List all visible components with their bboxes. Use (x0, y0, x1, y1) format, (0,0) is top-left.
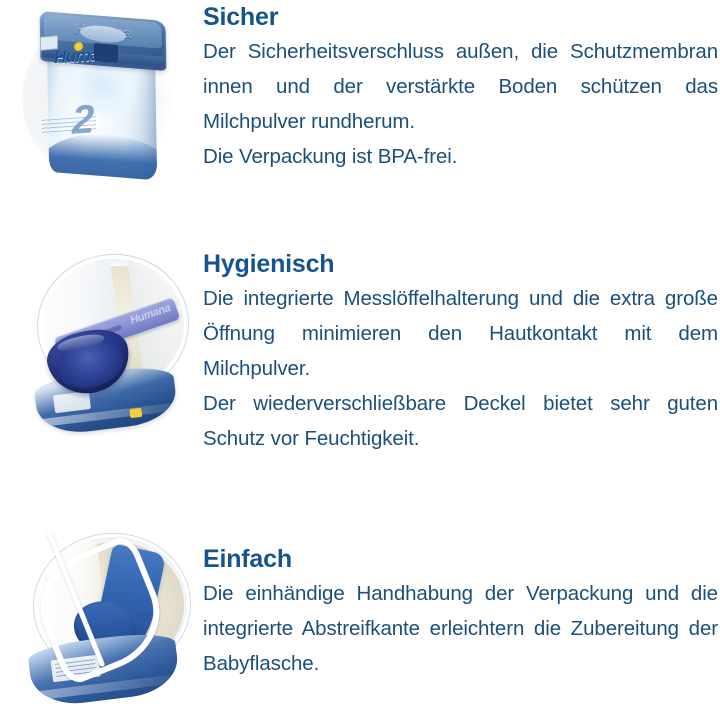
feature-paragraphs-hygienisch: Die integrierte Messlöffelhalterung und … (203, 281, 718, 456)
feature-paragraph: Der Sicherheitsverschluss außen, die Sch… (203, 34, 718, 139)
feature-image-hygienisch: Humana (18, 251, 186, 431)
feature-title-sicher: Sicher (203, 2, 718, 32)
feature-paragraph: Die integrierte Messlöffelhalterung und … (203, 281, 718, 386)
humana-closed-tin-photo: Humana 2 Humana (28, 10, 176, 182)
feature-paragraph: Die einhändige Handhabung der Verpackung… (203, 576, 718, 681)
humana-open-tin-wiper-photo (26, 534, 194, 702)
label-info-box (53, 391, 91, 413)
humana-scoop-holder-photo: Humana (26, 253, 191, 429)
product-feature-page: Humana 2 Humana Sicher Der Sicherheitsve… (0, 0, 720, 686)
feature-text-sicher: Sicher Der Sicherheitsverschluss außen, … (203, 2, 718, 174)
label-accent-swatch (129, 408, 142, 418)
safety-closure-clip (94, 43, 118, 63)
feature-paragraphs-einfach: Die einhändige Handhabung der Verpackung… (203, 576, 718, 681)
feature-paragraph: Die Verpackung ist BPA-frei. (203, 139, 718, 174)
feature-title-hygienisch: Hygienisch (203, 249, 718, 279)
feature-text-einfach: Einfach Die einhändige Handhabung der Ve… (203, 544, 718, 681)
feature-image-sicher: Humana 2 Humana (18, 6, 186, 186)
feature-title-einfach: Einfach (203, 544, 718, 574)
feature-text-hygienisch: Hygienisch Die integrierte Messlöffelhal… (203, 249, 718, 456)
feature-paragraph: Der wiederverschließbare Deckel bietet s… (203, 386, 718, 456)
feature-image-einfach (18, 534, 186, 699)
feature-paragraphs-sicher: Der Sicherheitsverschluss außen, die Sch… (203, 34, 718, 174)
